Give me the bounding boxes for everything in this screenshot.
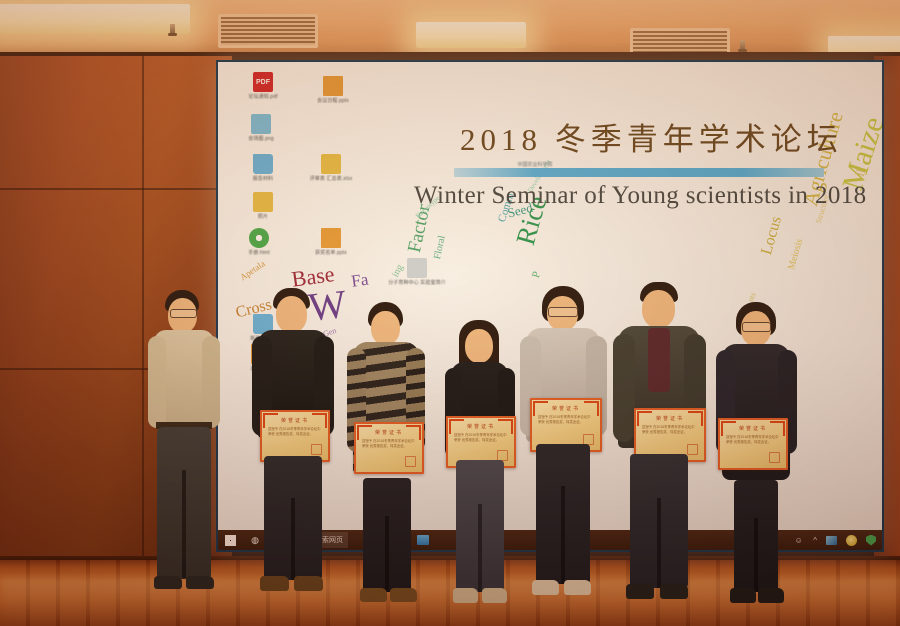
head <box>465 329 493 363</box>
glasses <box>742 322 771 332</box>
head <box>371 311 400 345</box>
chevron-up-icon[interactable]: ^ <box>813 536 817 545</box>
desktop-icon-label: 获奖名单.pptx <box>300 250 362 256</box>
person-awardee-2: 荣誉证书 兹授予 在2018冬季青年学术论坛中 荣获 优秀报告奖，特发此证。 <box>344 302 430 620</box>
word-cloud-term: Floral <box>432 235 448 261</box>
slide-title-english: Winter Seminar of Young scientists in 20… <box>414 182 867 210</box>
slide-title-chinese: 2018 冬季青年学术论坛 <box>460 114 843 159</box>
word-cloud-term: Fa <box>350 270 370 292</box>
certificate: 荣誉证书 兹授予 在2018冬季青年学术论坛中 荣获 优秀报告奖，特发此证。 <box>718 418 788 470</box>
certificate-title: 荣誉证书 <box>636 415 704 422</box>
desktop-icon[interactable]: 报告材料 <box>232 154 294 182</box>
desktop-icon-label: 评审表 汇总表.xlsx <box>300 176 362 182</box>
certificate: 荣誉证书 兹授予 在2018冬季青年学术论坛中 荣获 优秀报告奖，特发此证。 <box>354 422 424 474</box>
desktop-icon[interactable]: PDF论坛通知.pdf <box>232 72 294 100</box>
ceiling-vent-icon <box>218 14 318 48</box>
word-cloud-term: P <box>530 270 543 279</box>
pptx-icon <box>321 228 341 248</box>
leg-gap <box>182 470 186 578</box>
slide-accent-bar <box>454 168 824 177</box>
ceiling <box>0 0 900 56</box>
inner-shirt <box>648 328 670 392</box>
certificate-title: 荣誉证书 <box>532 405 600 412</box>
ceiling-light <box>0 4 190 34</box>
arm-right <box>202 336 220 428</box>
desktop-icon-label: 会场图.png <box>230 136 292 142</box>
desktop-icon[interactable]: 获奖名单.pptx <box>300 228 362 256</box>
desktop-icon-label: 会议日程.pptx <box>302 98 364 104</box>
png-icon <box>251 114 271 134</box>
system-tray[interactable]: ☺ ^ <box>793 535 882 546</box>
slide-subtitle-small: 中国农业科学院 <box>470 162 600 168</box>
security-shield-icon[interactable] <box>866 535 876 546</box>
desktop-icon[interactable]: 照片 <box>232 192 294 220</box>
glasses <box>170 309 197 318</box>
desktop-icon-label: 报告材料 <box>232 176 294 182</box>
arm-left <box>613 334 635 442</box>
shoe-right <box>390 588 417 602</box>
certificate-seal <box>687 444 698 455</box>
leg-gap <box>478 504 482 592</box>
person-awardee-5: 荣誉证书 兹授予 在2018冬季青年学术论坛中 荣获 优秀报告奖，特发此证。 <box>612 282 708 622</box>
certificate-body: 兹授予 在2018冬季青年学术论坛中 荣获 优秀报告奖，特发此证。 <box>726 435 780 444</box>
txt-icon <box>407 258 427 278</box>
certificate-title: 荣誉证书 <box>720 425 786 432</box>
glasses <box>548 307 578 317</box>
desktop-icon[interactable]: 评审表 汇总表.xlsx <box>300 154 362 182</box>
certificate-title: 荣誉证书 <box>448 423 514 430</box>
shoe-right <box>186 576 214 589</box>
certificate-body: 兹授予 在2018冬季青年学术论坛中 荣获 优秀报告奖，特发此证。 <box>454 433 508 442</box>
certificate-title: 荣誉证书 <box>356 429 422 436</box>
certificate-seal <box>311 444 322 455</box>
word-cloud-term: Locus <box>758 214 786 257</box>
person-awardee-3: 荣誉证书 兹授予 在2018冬季青年学术论坛中 荣获 优秀报告奖，特发此证。 <box>440 320 520 622</box>
photo-scene: PDF论坛通知.pdf会议日程.pptx会场图.png报告材料评审表 汇总表.x… <box>0 0 900 626</box>
certificate: 荣誉证书 兹授予 在2018冬季青年学术论坛中 荣获 优秀报告奖，特发此证。 <box>260 410 330 462</box>
word-cloud-term: Apetala <box>238 258 267 282</box>
desktop-icon[interactable]: 手册.html <box>228 228 290 256</box>
certificate-body: 兹授予 在2018冬季青年学术论坛中 荣获 优秀报告奖，特发此证。 <box>642 425 698 434</box>
certificate-seal <box>769 452 780 463</box>
desktop-icon-label: 照片 <box>232 214 294 220</box>
head <box>642 290 675 328</box>
shoe-right <box>564 580 591 595</box>
sprinkler-icon <box>170 24 175 35</box>
arm-left <box>148 336 166 428</box>
certificate-body: 兹授予 在2018冬季青年学术论坛中 荣获 优秀报告奖，特发此证。 <box>268 427 322 436</box>
certificate-seal <box>405 456 416 467</box>
head <box>276 296 307 333</box>
shoe-right <box>294 576 323 591</box>
leg-gap <box>754 518 758 592</box>
shoe-left <box>626 584 654 599</box>
leg-gap <box>561 486 565 584</box>
chrome-icon <box>249 228 269 248</box>
leg-gap <box>385 516 389 592</box>
update-icon[interactable] <box>846 535 857 546</box>
shoe-left <box>532 580 559 595</box>
network-icon[interactable] <box>826 536 837 545</box>
desktop-icon-label: 手册.html <box>228 250 290 256</box>
person-awardee-6: 荣誉证书 兹授予 在2018冬季青年学术论坛中 荣获 优秀报告奖，特发此证。 <box>714 302 798 622</box>
doc-icon <box>321 154 341 174</box>
certificate-body: 兹授予 在2018冬季青年学术论坛中 荣获 优秀报告奖，特发此证。 <box>538 415 594 424</box>
pptx-icon <box>323 76 343 96</box>
shoe-right <box>758 588 784 603</box>
shoe-right <box>660 584 688 599</box>
sprinkler-icon <box>740 40 745 51</box>
desktop-icon[interactable]: 会议日程.pptx <box>302 76 364 104</box>
person-awardee-1: 荣誉证书 兹授予 在2018冬季青年学术论坛中 荣获 优秀报告奖，特发此证。 <box>248 288 340 618</box>
shoe-left <box>453 588 478 603</box>
certificate-title: 荣誉证书 <box>262 417 328 424</box>
doc-icon <box>253 192 273 212</box>
person-awardee-4: 荣誉证书 兹授予 在2018冬季青年学术论坛中 荣获 优秀报告奖，特发此证。 <box>518 286 610 622</box>
ceiling-light <box>416 22 526 48</box>
pdf-icon: PDF <box>253 72 273 92</box>
leg-gap <box>291 498 295 580</box>
folder-icon <box>253 154 273 174</box>
person-presenter <box>140 290 228 620</box>
shoe-left <box>260 576 289 591</box>
shoe-left <box>360 588 387 602</box>
shoe-left <box>154 576 182 589</box>
shoe-right <box>482 588 507 603</box>
word-cloud-term: Meiosis <box>786 238 805 271</box>
desktop-icon[interactable]: 会场图.png <box>230 114 292 142</box>
leg-gap <box>657 498 661 588</box>
desktop-icon-label: 论坛通知.pdf <box>232 94 294 100</box>
shoe-left <box>730 588 756 603</box>
desktop-icon-label: 分子育种中心 实验室简介 <box>386 280 448 286</box>
certificate-body: 兹授予 在2018冬季青年学术论坛中 荣获 优秀报告奖，特发此证。 <box>362 439 416 448</box>
